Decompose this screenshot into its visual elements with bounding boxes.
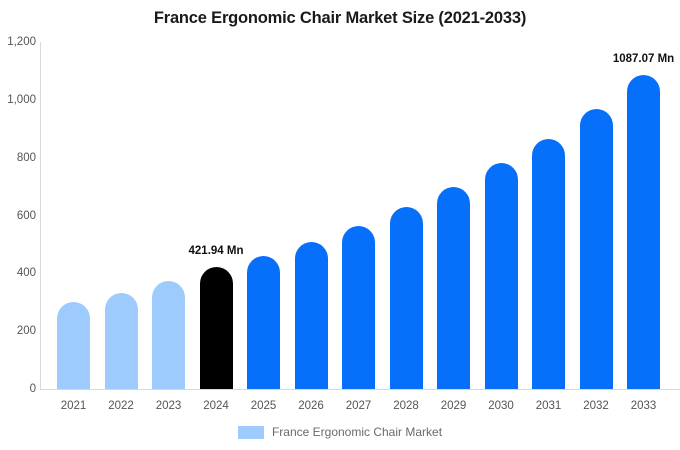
bar-rect-2030[interactable] — [485, 163, 518, 389]
bar-value-label-2033: 1087.07 Mn — [613, 53, 674, 65]
y-axis-tick-200: 200 — [0, 325, 36, 337]
x-axis-tick-2029: 2029 — [441, 400, 467, 412]
bar-rect-2032[interactable] — [580, 109, 613, 389]
bar-2033[interactable] — [627, 42, 660, 389]
x-axis-tick-2032: 2032 — [583, 400, 609, 412]
y-axis-tick-600: 600 — [0, 210, 36, 222]
x-axis-tick-2033: 2033 — [631, 400, 657, 412]
x-axis-tick-2030: 2030 — [488, 400, 514, 412]
bar-rect-2023[interactable] — [152, 281, 185, 389]
plot-area — [40, 42, 680, 389]
bar-rect-2028[interactable] — [390, 207, 423, 389]
bar-value-label-2024: 421.94 Mn — [189, 245, 244, 257]
chart-legend[interactable]: France Ergonomic Chair Market — [0, 425, 680, 439]
bar-rect-2027[interactable] — [342, 226, 375, 389]
y-axis-tick-1000: 1,000 — [0, 94, 36, 106]
x-axis-tick-2027: 2027 — [346, 400, 372, 412]
bar-2021[interactable] — [57, 42, 90, 389]
bar-2027[interactable] — [342, 42, 375, 389]
x-axis-tick-2022: 2022 — [108, 400, 134, 412]
bar-2030[interactable] — [485, 42, 518, 389]
x-axis-tick-2031: 2031 — [536, 400, 562, 412]
bar-rect-2026[interactable] — [295, 242, 328, 389]
x-axis-tick-2025: 2025 — [251, 400, 277, 412]
bar-2023[interactable] — [152, 42, 185, 389]
bar-2022[interactable] — [105, 42, 138, 389]
bar-rect-2025[interactable] — [247, 256, 280, 389]
chart-title: France Ergonomic Chair Market Size (2021… — [0, 9, 680, 28]
x-axis-tick-2021: 2021 — [61, 400, 87, 412]
y-axis-tick-1200: 1,200 — [0, 36, 36, 48]
bar-2029[interactable] — [437, 42, 470, 389]
y-axis-tick-0: 0 — [0, 383, 36, 395]
x-axis-tick-2023: 2023 — [156, 400, 182, 412]
bar-2031[interactable] — [532, 42, 565, 389]
bar-2024[interactable] — [200, 42, 233, 389]
x-axis-tick-2028: 2028 — [393, 400, 419, 412]
x-axis-tick-2026: 2026 — [298, 400, 324, 412]
bar-chart: France Ergonomic Chair Market Size (2021… — [0, 0, 680, 450]
bar-2026[interactable] — [295, 42, 328, 389]
y-axis-tick-labels: 02004006008001,0001,200 — [0, 0, 36, 450]
bar-2028[interactable] — [390, 42, 423, 389]
bar-rect-2024[interactable] — [200, 267, 233, 389]
legend-label-france-ergonomic-chair-market: France Ergonomic Chair Market — [272, 425, 442, 439]
bar-rect-2021[interactable] — [57, 302, 90, 389]
bar-rect-2033[interactable] — [627, 75, 660, 389]
bar-rect-2022[interactable] — [105, 293, 138, 389]
bar-2025[interactable] — [247, 42, 280, 389]
legend-swatch-france-ergonomic-chair-market — [238, 426, 264, 439]
y-axis-tick-400: 400 — [0, 267, 36, 279]
bar-rect-2031[interactable] — [532, 139, 565, 389]
bar-rect-2029[interactable] — [437, 187, 470, 389]
y-axis-tick-800: 800 — [0, 152, 36, 164]
x-axis-line — [40, 389, 680, 390]
bar-2032[interactable] — [580, 42, 613, 389]
x-axis-tick-2024: 2024 — [203, 400, 229, 412]
